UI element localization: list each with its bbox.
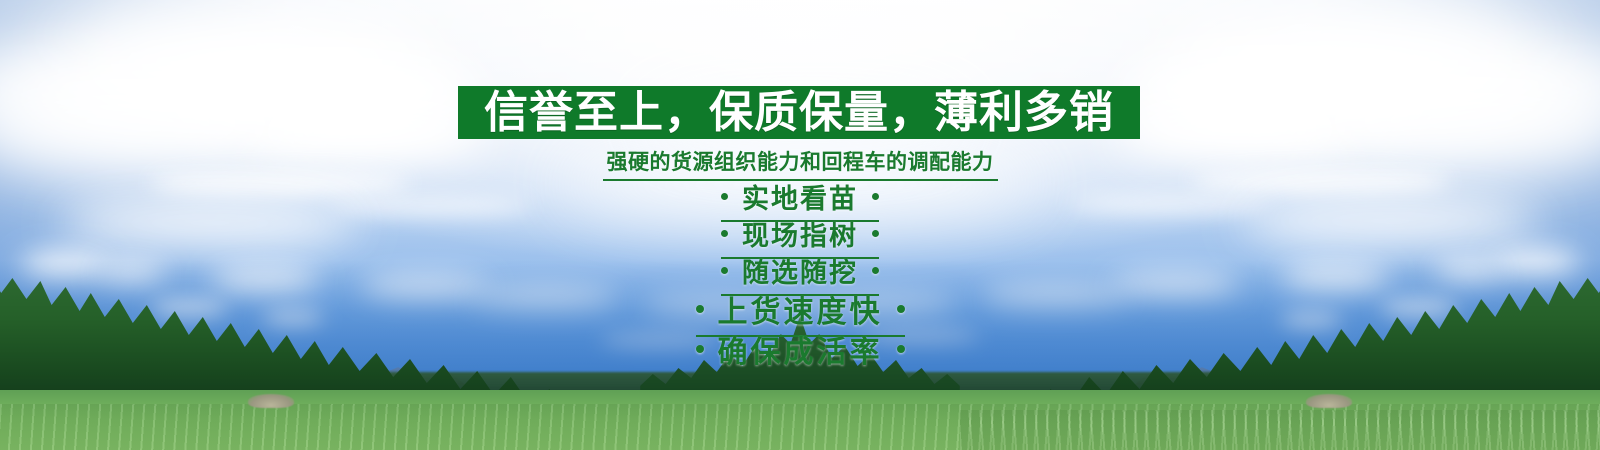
feature-label: 实地看苗 — [742, 177, 858, 216]
bullet-dot-icon — [721, 230, 728, 237]
bullet-dot-icon — [872, 267, 879, 274]
bullet-dot-icon — [721, 267, 728, 274]
bullet-dot-icon — [897, 345, 905, 353]
feature-label: 现场指树 — [742, 214, 858, 253]
bullet-dot-icon — [897, 305, 905, 313]
headline-text: 信誉至上，保质保量，薄利多销 — [484, 91, 1114, 135]
feature-item: 实地看苗 — [0, 180, 1600, 217]
promo-banner: 信誉至上，保质保量，薄利多销 强硬的货源组织能力和回程车的调配能力 实地看苗 现… — [0, 0, 1600, 450]
feature-list: 实地看苗 现场指树 随选随挖 — [0, 180, 1600, 371]
bullet-dot-icon — [696, 345, 704, 353]
feature-item: 现场指树 — [0, 217, 1600, 254]
bullet-dot-icon — [721, 193, 728, 200]
feature-label: 确保成活率 — [718, 327, 883, 371]
feature-item: 随选随挖 — [0, 254, 1600, 291]
bullet-dot-icon — [872, 230, 879, 237]
feature-item: 确保成活率 — [0, 331, 1600, 371]
banner-content: 信誉至上，保质保量，薄利多销 强硬的货源组织能力和回程车的调配能力 实地看苗 现… — [0, 0, 1600, 450]
feature-item: 上货速度快 — [0, 291, 1600, 331]
bullet-dot-icon — [872, 193, 879, 200]
headline-banner: 信誉至上，保质保量，薄利多销 — [458, 86, 1140, 139]
feature-label: 随选随挖 — [742, 251, 858, 290]
bullet-dot-icon — [696, 305, 704, 313]
feature-label: 上货速度快 — [718, 287, 883, 331]
